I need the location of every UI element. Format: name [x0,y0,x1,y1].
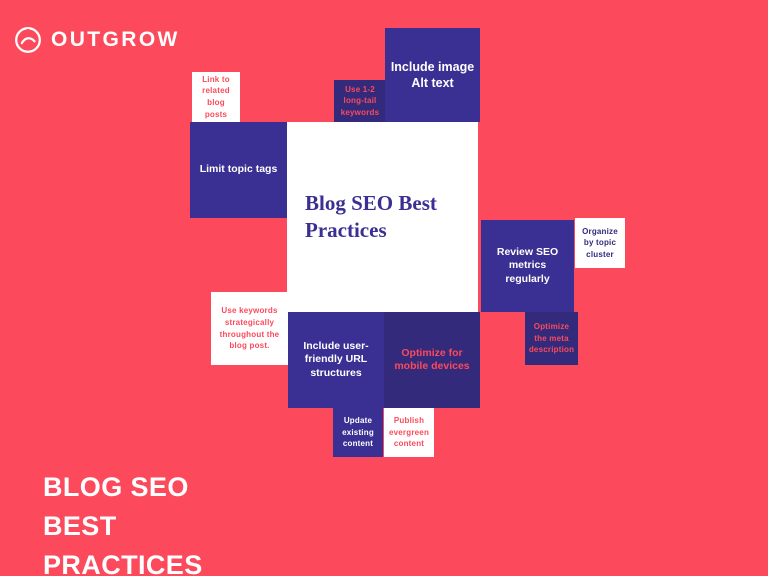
tile-label: Use 1-2 long-tail keywords [334,84,386,119]
tile-review-seo-metrics[interactable]: Review SEO metrics regularly [481,220,574,312]
footer-headline-line-3: PRACTICES [43,546,203,585]
tile-optimize-for-mobile[interactable]: Optimize for mobile devices [384,312,480,408]
tile-include-image-alt-text[interactable]: Include image Alt text [385,28,480,122]
tile-label: Limit topic tags [195,163,283,176]
tile-link-to-related-blog-posts[interactable]: Link to related blog posts [192,72,240,122]
tile-label: Include user-friendly URL structures [288,340,384,380]
tile-label: Include image Alt text [385,59,480,91]
hero-card: Blog SEO Best Practices [287,122,478,312]
footer-headline-line-1: BLOG SEO [43,468,203,507]
tile-label: Link to related blog posts [192,74,240,120]
tile-limit-topic-tags[interactable]: Limit topic tags [190,122,287,218]
tile-publish-evergreen-content[interactable]: Publish evergreen content [384,408,434,457]
tile-use-keywords-strategically[interactable]: Use keywords strategically throughout th… [211,292,288,365]
tile-use-long-tail-keywords[interactable]: Use 1-2 long-tail keywords [334,80,386,122]
tile-label: Update existing content [333,415,383,450]
page-title: Blog SEO Best Practices [287,190,478,245]
tile-update-existing-content[interactable]: Update existing content [333,408,383,457]
tile-label: Publish evergreen content [384,415,434,450]
tile-label: Use keywords strategically throughout th… [211,305,288,351]
tile-label: Organize by topic cluster [575,226,625,261]
outgrow-circle-icon [14,26,42,54]
tile-label: Optimize the meta description [524,321,579,356]
brand-wordmark: OUTGROW [51,28,180,52]
footer-headline: BLOG SEO BEST PRACTICES [43,468,203,585]
tile-include-user-friendly-url[interactable]: Include user-friendly URL structures [288,312,384,408]
tile-organize-by-topic-cluster[interactable]: Organize by topic cluster [575,218,625,268]
infographic-canvas: OUTGROW Link to related blog posts Use 1… [0,0,768,576]
brand-logo: OUTGROW [14,26,180,54]
footer-headline-line-2: BEST [43,507,203,546]
tile-optimize-meta-description[interactable]: Optimize the meta description [525,312,578,365]
tile-label: Optimize for mobile devices [384,347,480,374]
tile-label: Review SEO metrics regularly [481,246,574,286]
